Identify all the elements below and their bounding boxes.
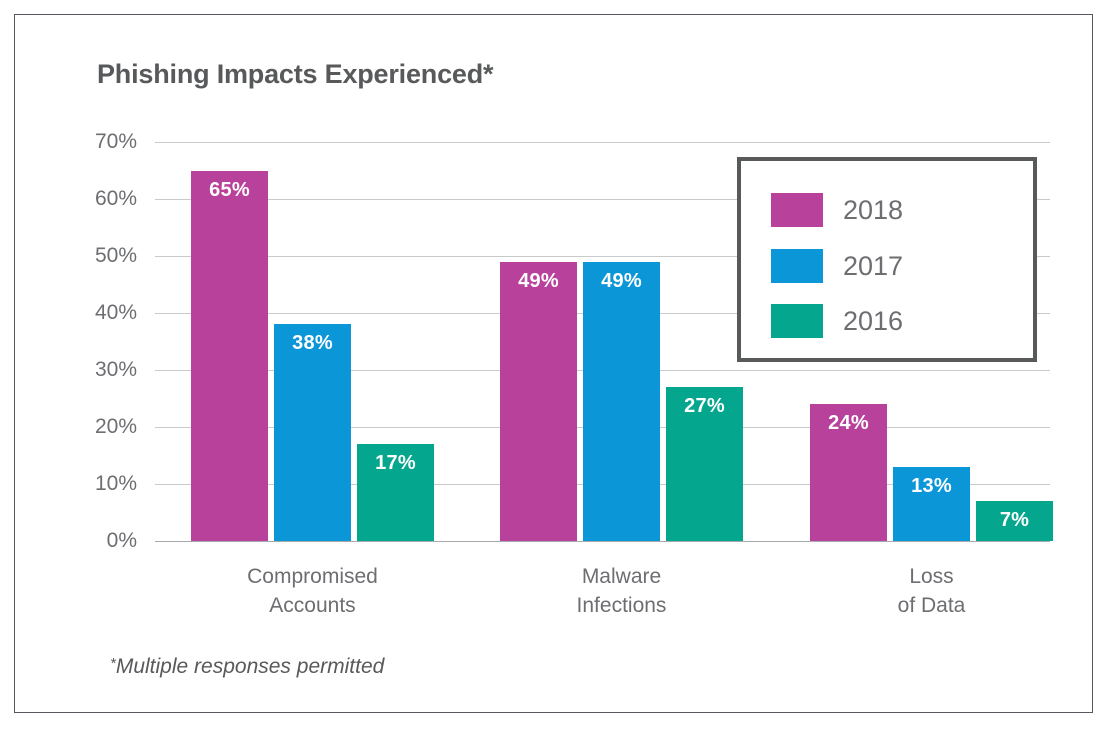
- legend-item-2018[interactable]: 2018: [771, 193, 903, 227]
- bar-2018-loss-of-data[interactable]: 24%: [810, 404, 887, 541]
- x-axis-category-line: of Data: [810, 592, 1053, 621]
- legend-swatch-2016: [771, 304, 823, 338]
- bar-value-label: 7%: [976, 509, 1053, 532]
- chart-legend: 201820172016: [737, 157, 1037, 362]
- x-axis-category-line: Compromised: [191, 563, 434, 592]
- legend-label: 2017: [843, 253, 903, 280]
- legend-label: 2018: [843, 197, 903, 224]
- bar-value-label: 24%: [810, 412, 887, 435]
- y-axis-tick-label: 70%: [79, 130, 137, 154]
- chart-footnote: *Multiple responses permitted: [110, 655, 384, 679]
- axis-baseline: [155, 541, 1050, 542]
- bar-2016-compromised-accounts[interactable]: 17%: [357, 444, 434, 541]
- bar-value-label: 17%: [357, 452, 434, 475]
- bar-value-label: 49%: [583, 270, 660, 293]
- bar-2017-malware-infections[interactable]: 49%: [583, 262, 660, 541]
- bar-2018-compromised-accounts[interactable]: 65%: [191, 171, 268, 542]
- bar-value-label: 65%: [191, 179, 268, 202]
- x-axis-category-line: Accounts: [191, 592, 434, 621]
- y-axis-tick-label: 50%: [79, 244, 137, 268]
- gridline: [155, 142, 1050, 143]
- chart-frame: Phishing Impacts Experienced* 70%60%50%4…: [14, 14, 1093, 713]
- bar-value-label: 49%: [500, 270, 577, 293]
- y-axis-tick-label: 30%: [79, 358, 137, 382]
- x-axis-category-label: Lossof Data: [810, 563, 1053, 621]
- legend-label: 2016: [843, 308, 903, 335]
- bar-2018-malware-infections[interactable]: 49%: [500, 262, 577, 541]
- legend-swatch-2018: [771, 193, 823, 227]
- x-axis-category-label: MalwareInfections: [500, 563, 743, 621]
- bar-2017-compromised-accounts[interactable]: 38%: [274, 324, 351, 541]
- footnote-text: Multiple responses permitted: [116, 655, 384, 678]
- bar-2016-malware-infections[interactable]: 27%: [666, 387, 743, 541]
- bar-value-label: 13%: [893, 475, 970, 498]
- legend-item-2016[interactable]: 2016: [771, 304, 903, 338]
- bar-2017-loss-of-data[interactable]: 13%: [893, 467, 970, 541]
- y-axis-tick-label: 60%: [79, 187, 137, 211]
- y-axis-tick-label: 0%: [79, 529, 137, 553]
- bar-value-label: 27%: [666, 395, 743, 418]
- x-axis-category-line: Infections: [500, 592, 743, 621]
- y-axis-tick-label: 20%: [79, 415, 137, 439]
- y-axis-tick-label: 40%: [79, 301, 137, 325]
- bar-value-label: 38%: [274, 332, 351, 355]
- x-axis-category-line: Malware: [500, 563, 743, 592]
- y-axis: 70%60%50%40%30%20%10%0%: [77, 142, 137, 541]
- x-axis-category-label: CompromisedAccounts: [191, 563, 434, 621]
- y-axis-tick-label: 10%: [79, 472, 137, 496]
- legend-swatch-2017: [771, 249, 823, 283]
- chart-title: Phishing Impacts Experienced*: [97, 59, 493, 90]
- x-axis-category-line: Loss: [810, 563, 1053, 592]
- bar-2016-loss-of-data[interactable]: 7%: [976, 501, 1053, 541]
- legend-item-2017[interactable]: 2017: [771, 249, 903, 283]
